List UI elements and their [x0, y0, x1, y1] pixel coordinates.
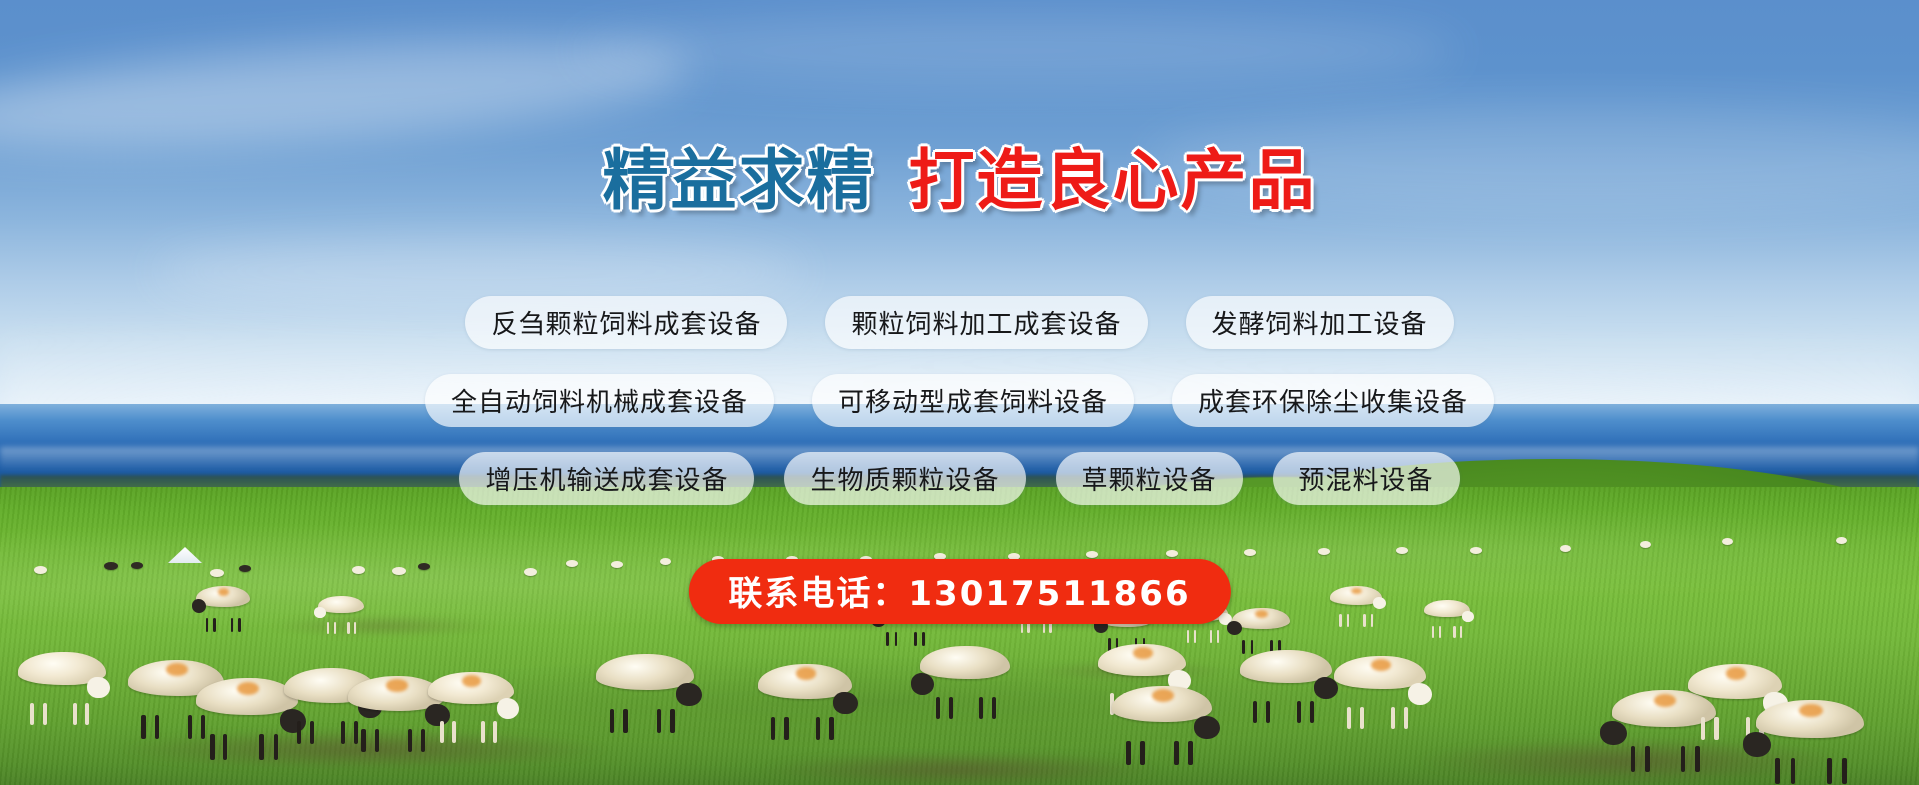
distant-sheep: [1470, 547, 1482, 554]
distant-sheep: [104, 562, 118, 570]
dirt-patch: [230, 612, 537, 639]
headline-blue-text: 精益求精: [603, 142, 875, 219]
sheep: [758, 664, 852, 720]
distant-sheep: [418, 563, 430, 570]
product-row-3: 增压机输送成套设备 生物质颗粒设备 草颗粒设备 预混料设备: [445, 452, 1475, 505]
headline: 精益求精打造良心产品: [0, 148, 1919, 214]
product-pill[interactable]: 颗粒饲料加工成套设备: [825, 296, 1147, 349]
product-row-2: 全自动饲料机械成套设备 可移动型成套饲料设备 成套环保除尘收集设备: [445, 374, 1475, 427]
sheep: [596, 654, 694, 712]
sheep: [1232, 608, 1290, 642]
product-pill[interactable]: 全自动饲料机械成套设备: [425, 374, 774, 427]
sheep: [428, 672, 514, 724]
product-row-1: 反刍颗粒饲料成套设备 颗粒饲料加工成套设备 发酵饲料加工设备: [445, 296, 1475, 349]
product-pill[interactable]: 生物质颗粒设备: [784, 452, 1025, 505]
sheep: [18, 652, 106, 706]
product-pill[interactable]: 预混料设备: [1273, 452, 1460, 505]
sheep: [1112, 686, 1212, 744]
product-pill[interactable]: 增压机输送成套设备: [459, 452, 754, 505]
distant-sheep: [131, 562, 143, 569]
product-categories: 反刍颗粒饲料成套设备 颗粒饲料加工成套设备 发酵饲料加工设备 全自动饲料机械成套…: [445, 296, 1475, 530]
product-pill[interactable]: 发酵饲料加工设备: [1186, 296, 1454, 349]
distant-sheep: [1396, 547, 1408, 554]
sheep: [1424, 600, 1470, 628]
distant-sheep: [524, 568, 537, 576]
distant-sheep: [1560, 545, 1571, 552]
sheep: [318, 596, 364, 624]
sheep: [1240, 650, 1332, 704]
sheep: [196, 586, 250, 620]
distant-sheep: [210, 569, 224, 577]
distant-sheep: [1836, 537, 1847, 544]
cloud: [576, 16, 1459, 87]
distant-sheep: [392, 567, 406, 575]
distant-sheep: [1244, 549, 1256, 556]
product-pill[interactable]: 可移动型成套饲料设备: [812, 374, 1134, 427]
product-pill[interactable]: 反刍颗粒饲料成套设备: [465, 296, 787, 349]
distant-sheep: [566, 560, 578, 567]
distant-sheep: [34, 566, 47, 574]
contact-phone-banner[interactable]: 联系电话：13017511866: [688, 559, 1230, 624]
sheep: [1330, 586, 1382, 616]
distant-sheep: [1722, 538, 1733, 545]
distant-sheep: [660, 558, 671, 565]
sheep: [196, 678, 298, 738]
distant-sheep: [1166, 550, 1178, 557]
distant-sheep: [239, 565, 251, 572]
headline-red-text: 打造良心产品: [909, 142, 1317, 219]
sheep: [920, 646, 1010, 700]
product-pill[interactable]: 草颗粒设备: [1056, 452, 1243, 505]
distant-sheep: [352, 566, 365, 574]
sheep: [1756, 700, 1864, 762]
sheep: [1334, 656, 1426, 710]
distant-sheep: [1640, 541, 1651, 548]
promo-banner: 精益求精打造良心产品 反刍颗粒饲料成套设备 颗粒饲料加工成套设备 发酵饲料加工设…: [0, 0, 1919, 785]
distant-sheep: [611, 561, 623, 568]
product-pill[interactable]: 成套环保除尘收集设备: [1172, 374, 1494, 427]
distant-sheep: [1086, 551, 1098, 558]
distant-sheep: [1318, 548, 1330, 555]
